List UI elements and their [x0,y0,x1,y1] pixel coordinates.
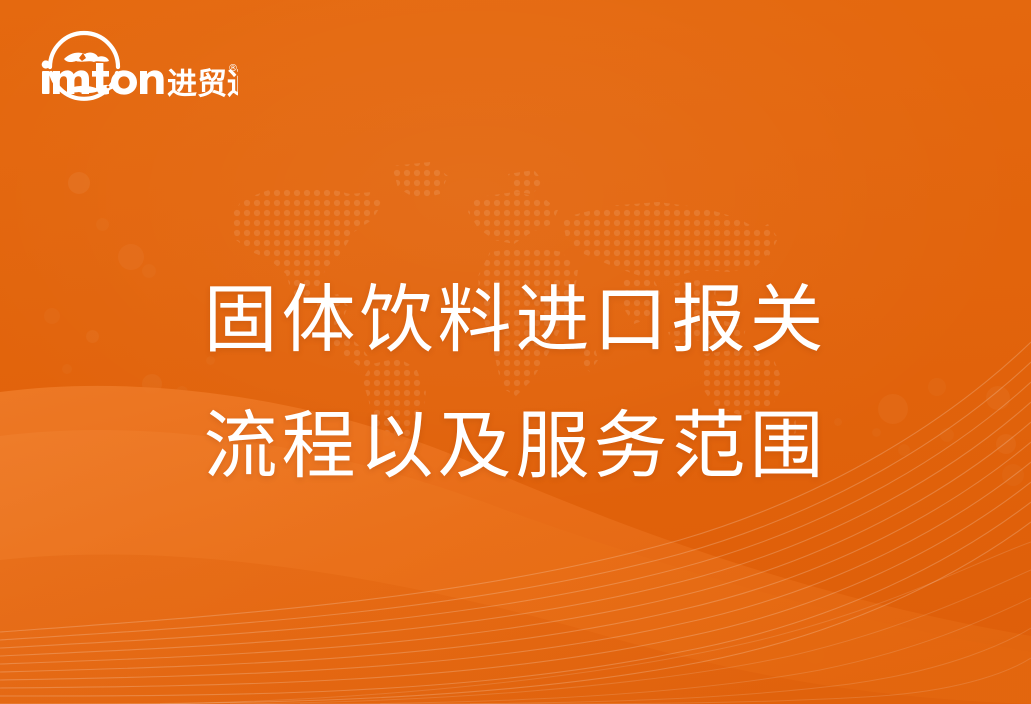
brand-logo[interactable]: 进贸通 ® [38,27,238,111]
page-title-line-1: 固体饮料进口报关 [0,258,1031,384]
poster-canvas: 进贸通 ® 固体饮料进口报关 流程以及服务范围 [0,0,1031,704]
logo-trademark-symbol: ® [228,63,238,74]
page-title: 固体饮料进口报关 流程以及服务范围 [0,258,1031,510]
page-title-line-2: 流程以及服务范围 [0,384,1031,510]
